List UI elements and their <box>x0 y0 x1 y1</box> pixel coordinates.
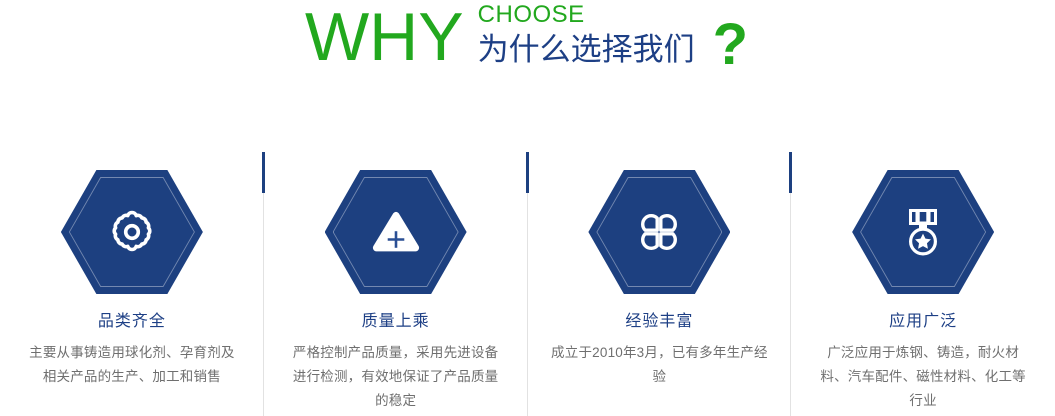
why-choose-us-section: WHY CHOOSE 为什么选择我们 ? <box>0 0 1055 416</box>
gear-icon <box>61 170 203 294</box>
heading-choose: CHOOSE <box>478 2 695 28</box>
section-heading: WHY CHOOSE 为什么选择我们 ? <box>0 0 1055 95</box>
feature-title-3: 经验丰富 <box>625 312 693 332</box>
feature-icon-badge-4 <box>852 170 994 294</box>
medal-icon <box>852 170 994 294</box>
feature-icon-badge-2 <box>325 170 467 294</box>
feature-columns: 品类齐全 主要从事铸造用球化剂、孕育剂及相关产品的生产、加工和销售 <box>0 140 1055 416</box>
feature-desc-1: 主要从事铸造用球化剂、孕育剂及相关产品的生产、加工和销售 <box>23 341 241 389</box>
feature-desc-2: 严格控制产品质量，采用先进设备进行检测，有效地保证了产品质量的稳定 <box>287 341 505 413</box>
feature-column-2: 质量上乘 严格控制产品质量，采用先进设备进行检测，有效地保证了产品质量的稳定 <box>264 140 528 416</box>
feature-icon-badge-1 <box>61 170 203 294</box>
triangle-plus-icon <box>325 170 467 294</box>
feature-column-3: 经验丰富 成立于2010年3月，已有多年生产经验 <box>528 140 792 416</box>
heading-question-mark: ? <box>713 0 748 76</box>
heading-inner: WHY CHOOSE 为什么选择我们 ? <box>305 0 748 76</box>
feature-column-1: 品类齐全 主要从事铸造用球化剂、孕育剂及相关产品的生产、加工和销售 <box>0 140 264 416</box>
heading-chinese-title: 为什么选择我们 <box>478 30 695 70</box>
feature-desc-3: 成立于2010年3月，已有多年生产经验 <box>550 341 768 389</box>
feature-title-4: 应用广泛 <box>889 312 957 332</box>
clover-icon <box>588 170 730 294</box>
feature-desc-4: 广泛应用于炼钢、铸造，耐火材料、汽车配件、磁性材料、化工等行业 <box>814 341 1032 413</box>
heading-why: WHY <box>305 0 464 74</box>
feature-column-4: 应用广泛 广泛应用于炼钢、铸造，耐火材料、汽车配件、磁性材料、化工等行业 <box>791 140 1055 416</box>
feature-icon-badge-3 <box>588 170 730 294</box>
feature-title-1: 品类齐全 <box>98 312 166 332</box>
feature-title-2: 质量上乘 <box>362 312 430 332</box>
heading-text-stack: CHOOSE 为什么选择我们 <box>478 0 695 70</box>
